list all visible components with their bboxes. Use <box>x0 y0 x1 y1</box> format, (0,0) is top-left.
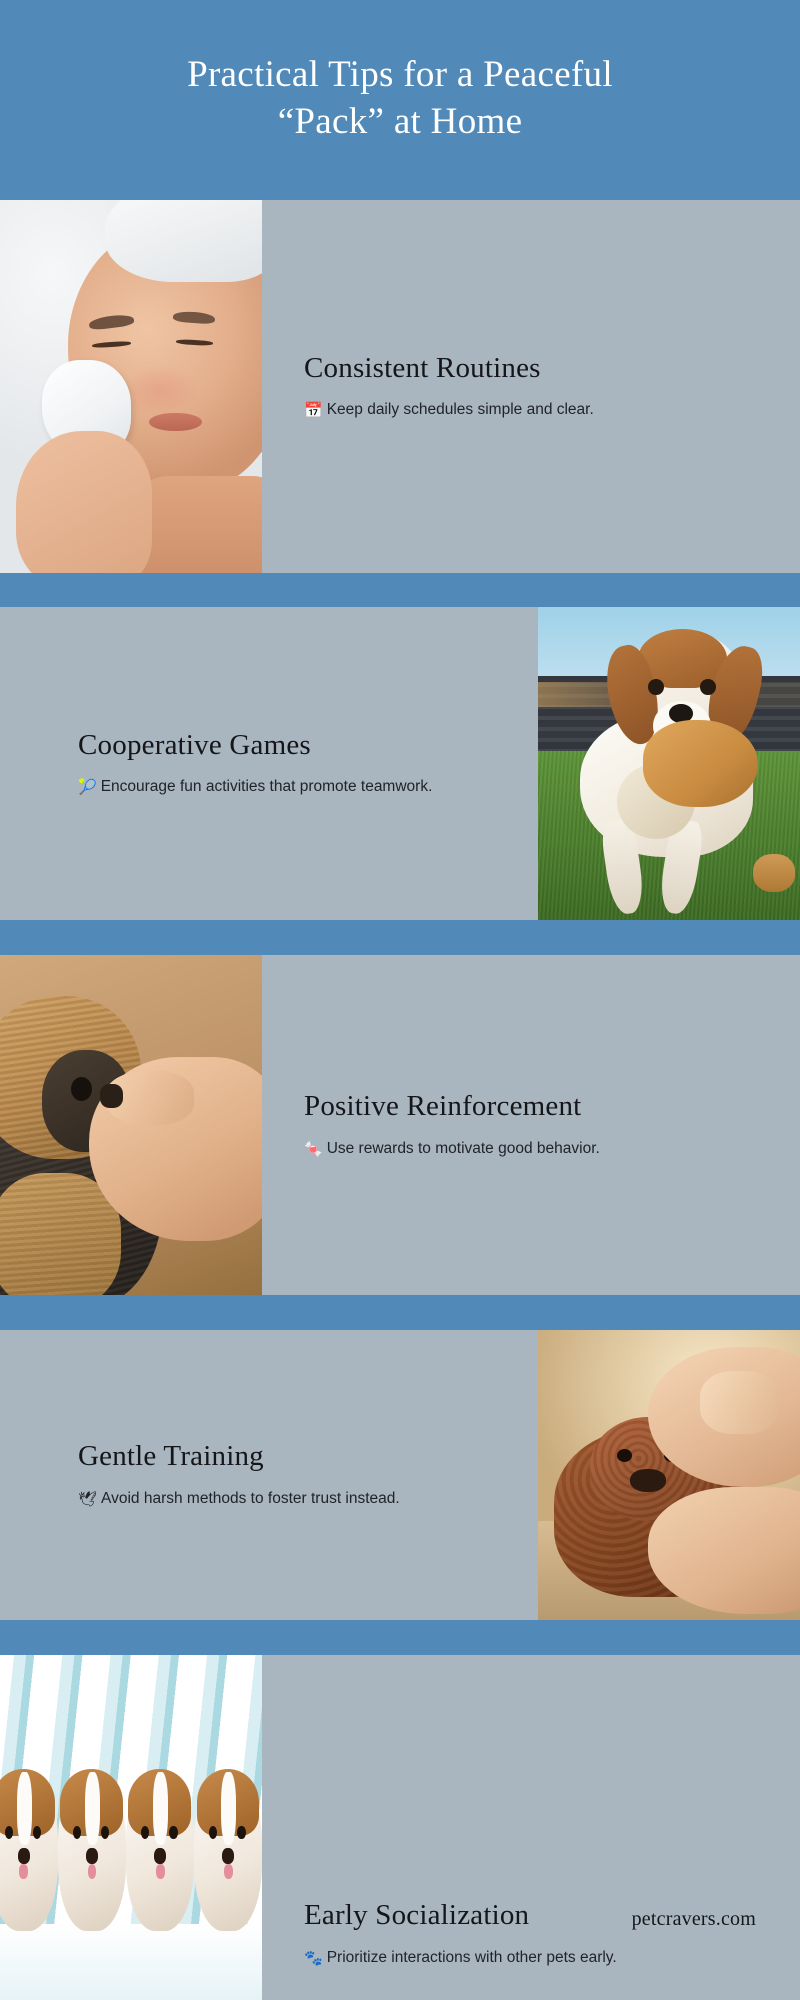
page-title-line-2: “Pack” at Home <box>278 101 523 142</box>
dove-icon: 🕊 <box>78 1491 97 1508</box>
tip-section-3: Positive Reinforcement 🍬Use rewards to m… <box>0 955 800 1295</box>
page-title-line-1: Practical Tips for a Peaceful <box>187 54 613 95</box>
tip-image-3 <box>0 955 262 1295</box>
page-title: Practical Tips for a Peaceful “Pack” at … <box>70 51 730 150</box>
tip-description-text-1: Keep daily schedules simple and clear. <box>327 402 594 419</box>
calendar-icon: 📅 <box>304 403 323 420</box>
tip-text-4: Gentle Training 🕊Avoid harsh methods to … <box>78 1439 508 1511</box>
tip-description-2: 🎾Encourage fun activities that promote t… <box>78 777 508 800</box>
tip-title-3: Positive Reinforcement <box>304 1089 754 1124</box>
infographic-page: Practical Tips for a Peaceful “Pack” at … <box>0 0 800 2000</box>
tip-image-4 <box>538 1330 800 1620</box>
tip-title-2: Cooperative Games <box>78 728 508 763</box>
section-divider-3 <box>0 1295 800 1330</box>
site-url[interactable]: petcravers.com <box>632 1908 756 1931</box>
tip-title-4: Gentle Training <box>78 1439 508 1474</box>
tip-text-3: Positive Reinforcement 🍬Use rewards to m… <box>304 1089 754 1161</box>
tip-description-text-3: Use rewards to motivate good behavior. <box>327 1140 600 1157</box>
section-divider-1 <box>0 573 800 607</box>
tip-text-1: Consistent Routines 📅Keep daily schedule… <box>304 351 754 423</box>
tip-description-text-2: Encourage fun activities that promote te… <box>101 779 433 796</box>
tip-section-1: Consistent Routines 📅Keep daily schedule… <box>0 200 800 573</box>
tip-description-text-4: Avoid harsh methods to foster trust inst… <box>101 1490 400 1507</box>
tip-description-1: 📅Keep daily schedules simple and clear. <box>304 400 754 423</box>
tennis-ball-icon: 🎾 <box>78 780 97 797</box>
section-divider-2 <box>0 920 800 955</box>
footer: petcravers.com <box>0 1880 800 2000</box>
tip-description-3: 🍬Use rewards to motivate good behavior. <box>304 1138 754 1161</box>
tip-description-4: 🕊Avoid harsh methods to foster trust ins… <box>78 1488 508 1511</box>
tip-title-1: Consistent Routines <box>304 351 754 386</box>
section-divider-4 <box>0 1620 800 1655</box>
tip-image-1 <box>0 200 262 573</box>
header-banner: Practical Tips for a Peaceful “Pack” at … <box>0 0 800 200</box>
tip-text-2: Cooperative Games 🎾Encourage fun activit… <box>78 728 508 800</box>
tip-image-2 <box>538 607 800 920</box>
tip-section-2: Cooperative Games 🎾Encourage fun activit… <box>0 607 800 920</box>
tip-section-4: Gentle Training 🕊Avoid harsh methods to … <box>0 1330 800 1620</box>
candy-icon: 🍬 <box>304 1141 323 1158</box>
